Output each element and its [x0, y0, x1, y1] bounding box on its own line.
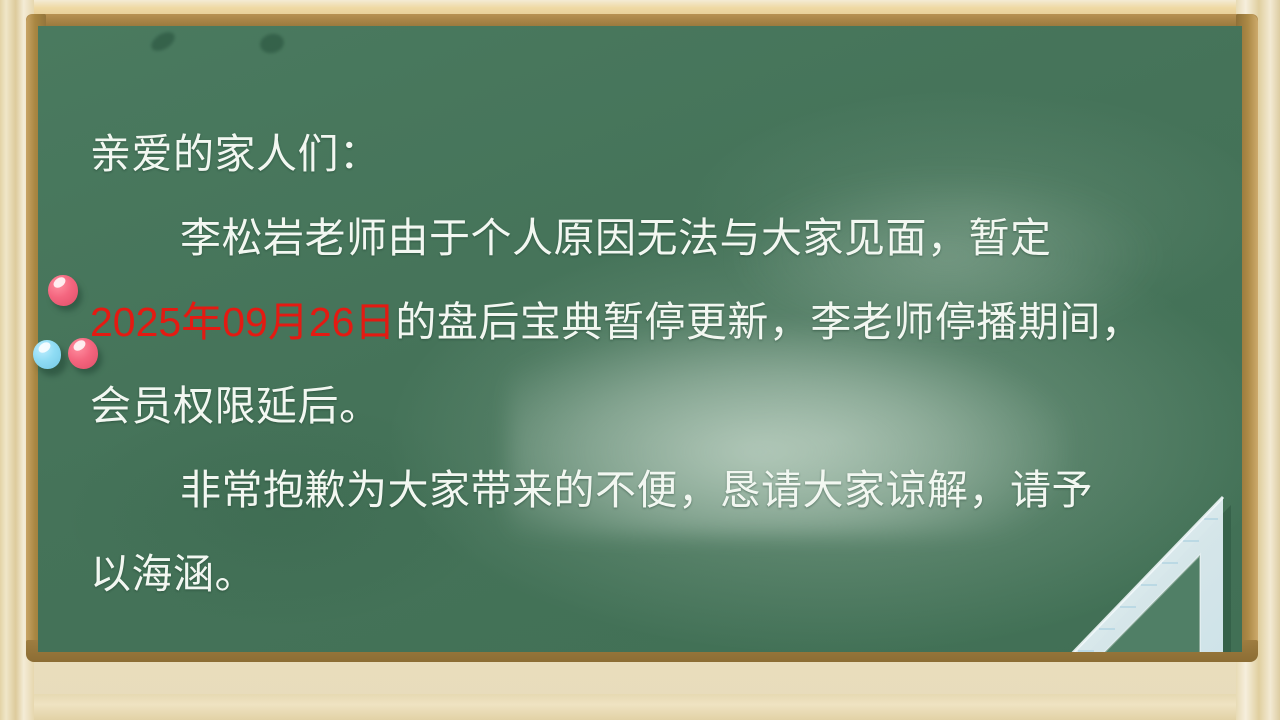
notice-text: 亲爱的家人们： 李松岩老师由于个人原因无法与大家见面，暂定 2025年09月26…: [90, 112, 1200, 616]
chalkboard: 亲爱的家人们： 李松岩老师由于个人原因无法与大家见面，暂定 2025年09月26…: [38, 26, 1242, 652]
pin-pink-bottom[interactable]: [68, 338, 98, 369]
notice-paragraph2-line1: 非常抱歉为大家带来的不便，恳请大家谅解，请予: [90, 448, 1200, 532]
notice-paragraph1-line2: 2025年09月26日的盘后宝典暂停更新，李老师停播期间，: [90, 280, 1200, 364]
notice-paragraph1-line1: 李松岩老师由于个人原因无法与大家见面，暂定: [90, 196, 1200, 280]
chalk-smudge-left: [148, 28, 178, 54]
notice-paragraph1-line3: 会员权限延后。: [90, 364, 1200, 448]
chalk-smudge-right: [258, 31, 286, 55]
frame-rail-bottom: [0, 694, 1280, 720]
notice-paragraph1-line2-rest: 的盘后宝典暂停更新，李老师停播期间，: [395, 299, 1142, 345]
notice-salutation: 亲爱的家人们：: [90, 112, 1200, 196]
screen: 亲爱的家人们： 李松岩老师由于个人原因无法与大家见面，暂定 2025年09月26…: [0, 0, 1280, 720]
notice-date-highlight: 2025年09月26日: [90, 299, 395, 345]
pin-blue[interactable]: [33, 340, 61, 369]
notice-paragraph2-line2: 以海涵。: [90, 532, 1200, 616]
pin-pink-top[interactable]: [48, 275, 78, 306]
